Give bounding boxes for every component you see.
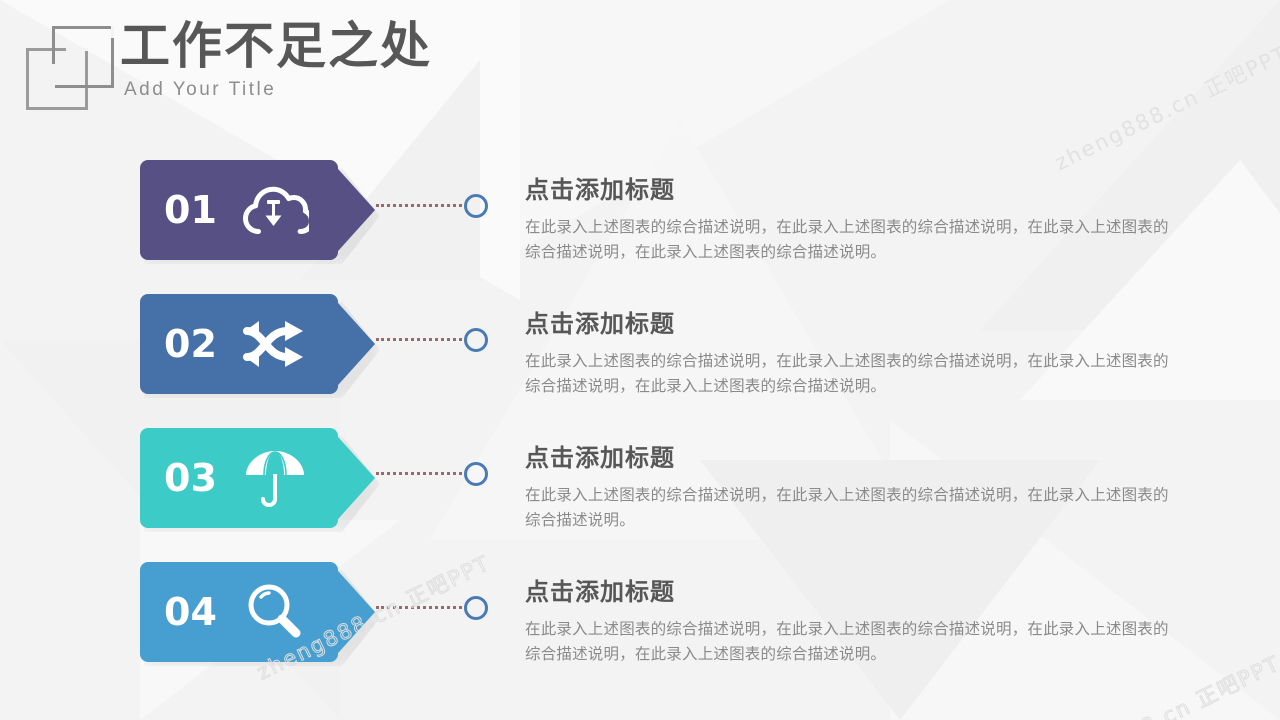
step-tag-03[interactable]: 03 bbox=[140, 428, 380, 528]
step-tag-02[interactable]: 02 bbox=[140, 294, 380, 394]
item-title: 点击添加标题 bbox=[525, 170, 1175, 205]
tag-arrow-point bbox=[330, 428, 375, 528]
list-item: 03 点击添加标题 在此录入上述图表的综合描述说明，在此录入上述图表的综合描述说… bbox=[0, 428, 1280, 538]
connector-line bbox=[376, 606, 462, 612]
page-title: 工作不足之处 bbox=[120, 18, 432, 76]
tag-arrow-point bbox=[330, 160, 375, 260]
connector-line bbox=[376, 204, 462, 210]
item-text-block: 点击添加标题 在此录入上述图表的综合描述说明，在此录入上述图表的综合描述说明，在… bbox=[525, 438, 1175, 533]
tag-arrow-point bbox=[330, 562, 375, 662]
step-number: 02 bbox=[164, 322, 217, 366]
title-block: 工作不足之处 Add Your Title bbox=[120, 18, 432, 101]
slide-header: 工作不足之处 Add Your Title bbox=[24, 18, 644, 128]
magnifier-icon bbox=[238, 579, 312, 645]
item-text-block: 点击添加标题 在此录入上述图表的综合描述说明，在此录入上述图表的综合描述说明，在… bbox=[525, 572, 1175, 667]
item-description: 在此录入上述图表的综合描述说明，在此录入上述图表的综合描述说明，在此录入上述图表… bbox=[525, 215, 1175, 265]
step-tag-04[interactable]: 04 bbox=[140, 562, 380, 662]
double-square-bracket-logo-icon bbox=[26, 26, 122, 118]
connector-circle bbox=[464, 194, 488, 218]
item-text-block: 点击添加标题 在此录入上述图表的综合描述说明，在此录入上述图表的综合描述说明，在… bbox=[525, 304, 1175, 399]
umbrella-icon bbox=[238, 445, 312, 511]
item-title: 点击添加标题 bbox=[525, 572, 1175, 607]
tag-shape: 04 bbox=[140, 562, 375, 662]
step-number: 01 bbox=[164, 188, 217, 232]
connector-circle bbox=[464, 596, 488, 620]
step-number: 03 bbox=[164, 456, 217, 500]
list-item: 04 点击添加标题 在此录入上述图表的综合描述说明，在此录入上述图表的综合描述说… bbox=[0, 562, 1280, 672]
slide-canvas: 工作不足之处 Add Your Title 01 bbox=[0, 0, 1280, 720]
list-item: 01 点击添加标题 在此录入上述图表的综合描述说明，在此录入上述图表的综合描述说… bbox=[0, 160, 1280, 270]
step-number: 04 bbox=[164, 590, 217, 634]
item-title: 点击添加标题 bbox=[525, 304, 1175, 339]
item-title: 点击添加标题 bbox=[525, 438, 1175, 473]
item-text-block: 点击添加标题 在此录入上述图表的综合描述说明，在此录入上述图表的综合描述说明，在… bbox=[525, 170, 1175, 265]
cloud-download-icon bbox=[238, 177, 312, 243]
tag-shape: 02 bbox=[140, 294, 375, 394]
item-description: 在此录入上述图表的综合描述说明，在此录入上述图表的综合描述说明，在此录入上述图表… bbox=[525, 483, 1175, 533]
connector-circle bbox=[464, 328, 488, 352]
item-description: 在此录入上述图表的综合描述说明，在此录入上述图表的综合描述说明，在此录入上述图表… bbox=[525, 349, 1175, 399]
tag-shape: 01 bbox=[140, 160, 375, 260]
item-description: 在此录入上述图表的综合描述说明，在此录入上述图表的综合描述说明，在此录入上述图表… bbox=[525, 617, 1175, 667]
tag-arrow-point bbox=[330, 294, 375, 394]
connector-circle bbox=[464, 462, 488, 486]
connector-line bbox=[376, 338, 462, 344]
step-tag-01[interactable]: 01 bbox=[140, 160, 380, 260]
page-subtitle: Add Your Title bbox=[124, 79, 432, 101]
shuffle-arrows-icon bbox=[238, 311, 312, 377]
list-item: 02 点击添加标题 在此录入上述图表的综合描述说明，在此录入上述图表的综合描述说… bbox=[0, 294, 1280, 404]
tag-shape: 03 bbox=[140, 428, 375, 528]
connector-line bbox=[376, 472, 462, 478]
